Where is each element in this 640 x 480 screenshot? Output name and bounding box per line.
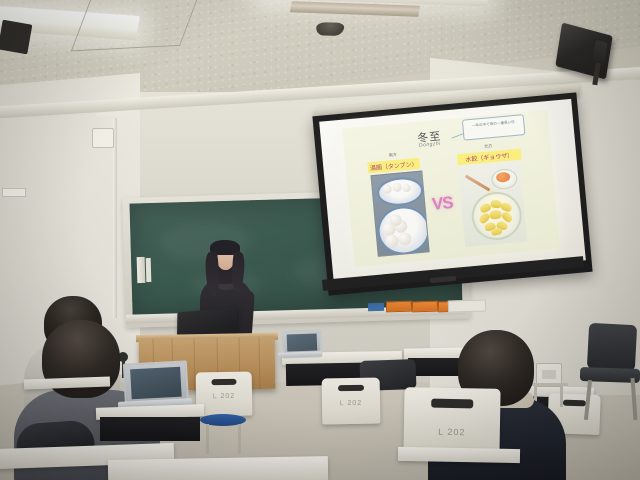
- student-desk: [398, 447, 520, 463]
- slide-callout-box: 一年の中で夜の一番長い日: [462, 114, 526, 141]
- chair-leg: [238, 424, 241, 454]
- desk-underside: [100, 417, 200, 441]
- chalk-box-blue[interactable]: [368, 303, 384, 311]
- dumpling-plate-photo: [458, 162, 527, 247]
- dumpling-plate: [470, 190, 524, 242]
- wall-plate: [2, 188, 26, 197]
- foreground-desk: [108, 456, 328, 480]
- chair-leg: [206, 424, 209, 454]
- wall-mounted-speaker: [0, 20, 32, 55]
- classroom-photo: 冬至 Dongzhi 一年の中で夜の一番長い日 南方 湯圓（タンブン） 北方 水…: [0, 0, 640, 480]
- presentation-slide: 冬至 Dongzhi 一年の中で夜の一番長い日 南方 湯圓（タンブン） 北方 水…: [342, 110, 560, 267]
- chalk-box-orange[interactable]: [412, 301, 438, 313]
- chalk-box-orange[interactable]: [386, 301, 412, 313]
- chair-room-label: L 202: [322, 400, 380, 408]
- chair-handle-slot: [431, 399, 473, 409]
- blackboard-clip: [146, 258, 152, 282]
- chopstick: [465, 175, 491, 192]
- classroom-chair[interactable]: L 202: [196, 372, 253, 417]
- wall-control-box[interactable]: [92, 128, 114, 148]
- tangyuan-bowls-photo: [370, 171, 429, 257]
- wall-conduit-pipe: [113, 118, 117, 318]
- blackboard-clip: [137, 257, 146, 283]
- chair-handle-slot: [338, 385, 364, 391]
- board-eraser-tray: [448, 299, 486, 312]
- versus-label: VS: [425, 192, 461, 215]
- classroom-chair[interactable]: L 202: [322, 377, 381, 424]
- chair-handle-slot: [211, 379, 236, 385]
- padded-chair-back[interactable]: [587, 323, 637, 371]
- chair-room-label: L 202: [404, 426, 500, 438]
- chair-room-label: L 202: [196, 393, 252, 401]
